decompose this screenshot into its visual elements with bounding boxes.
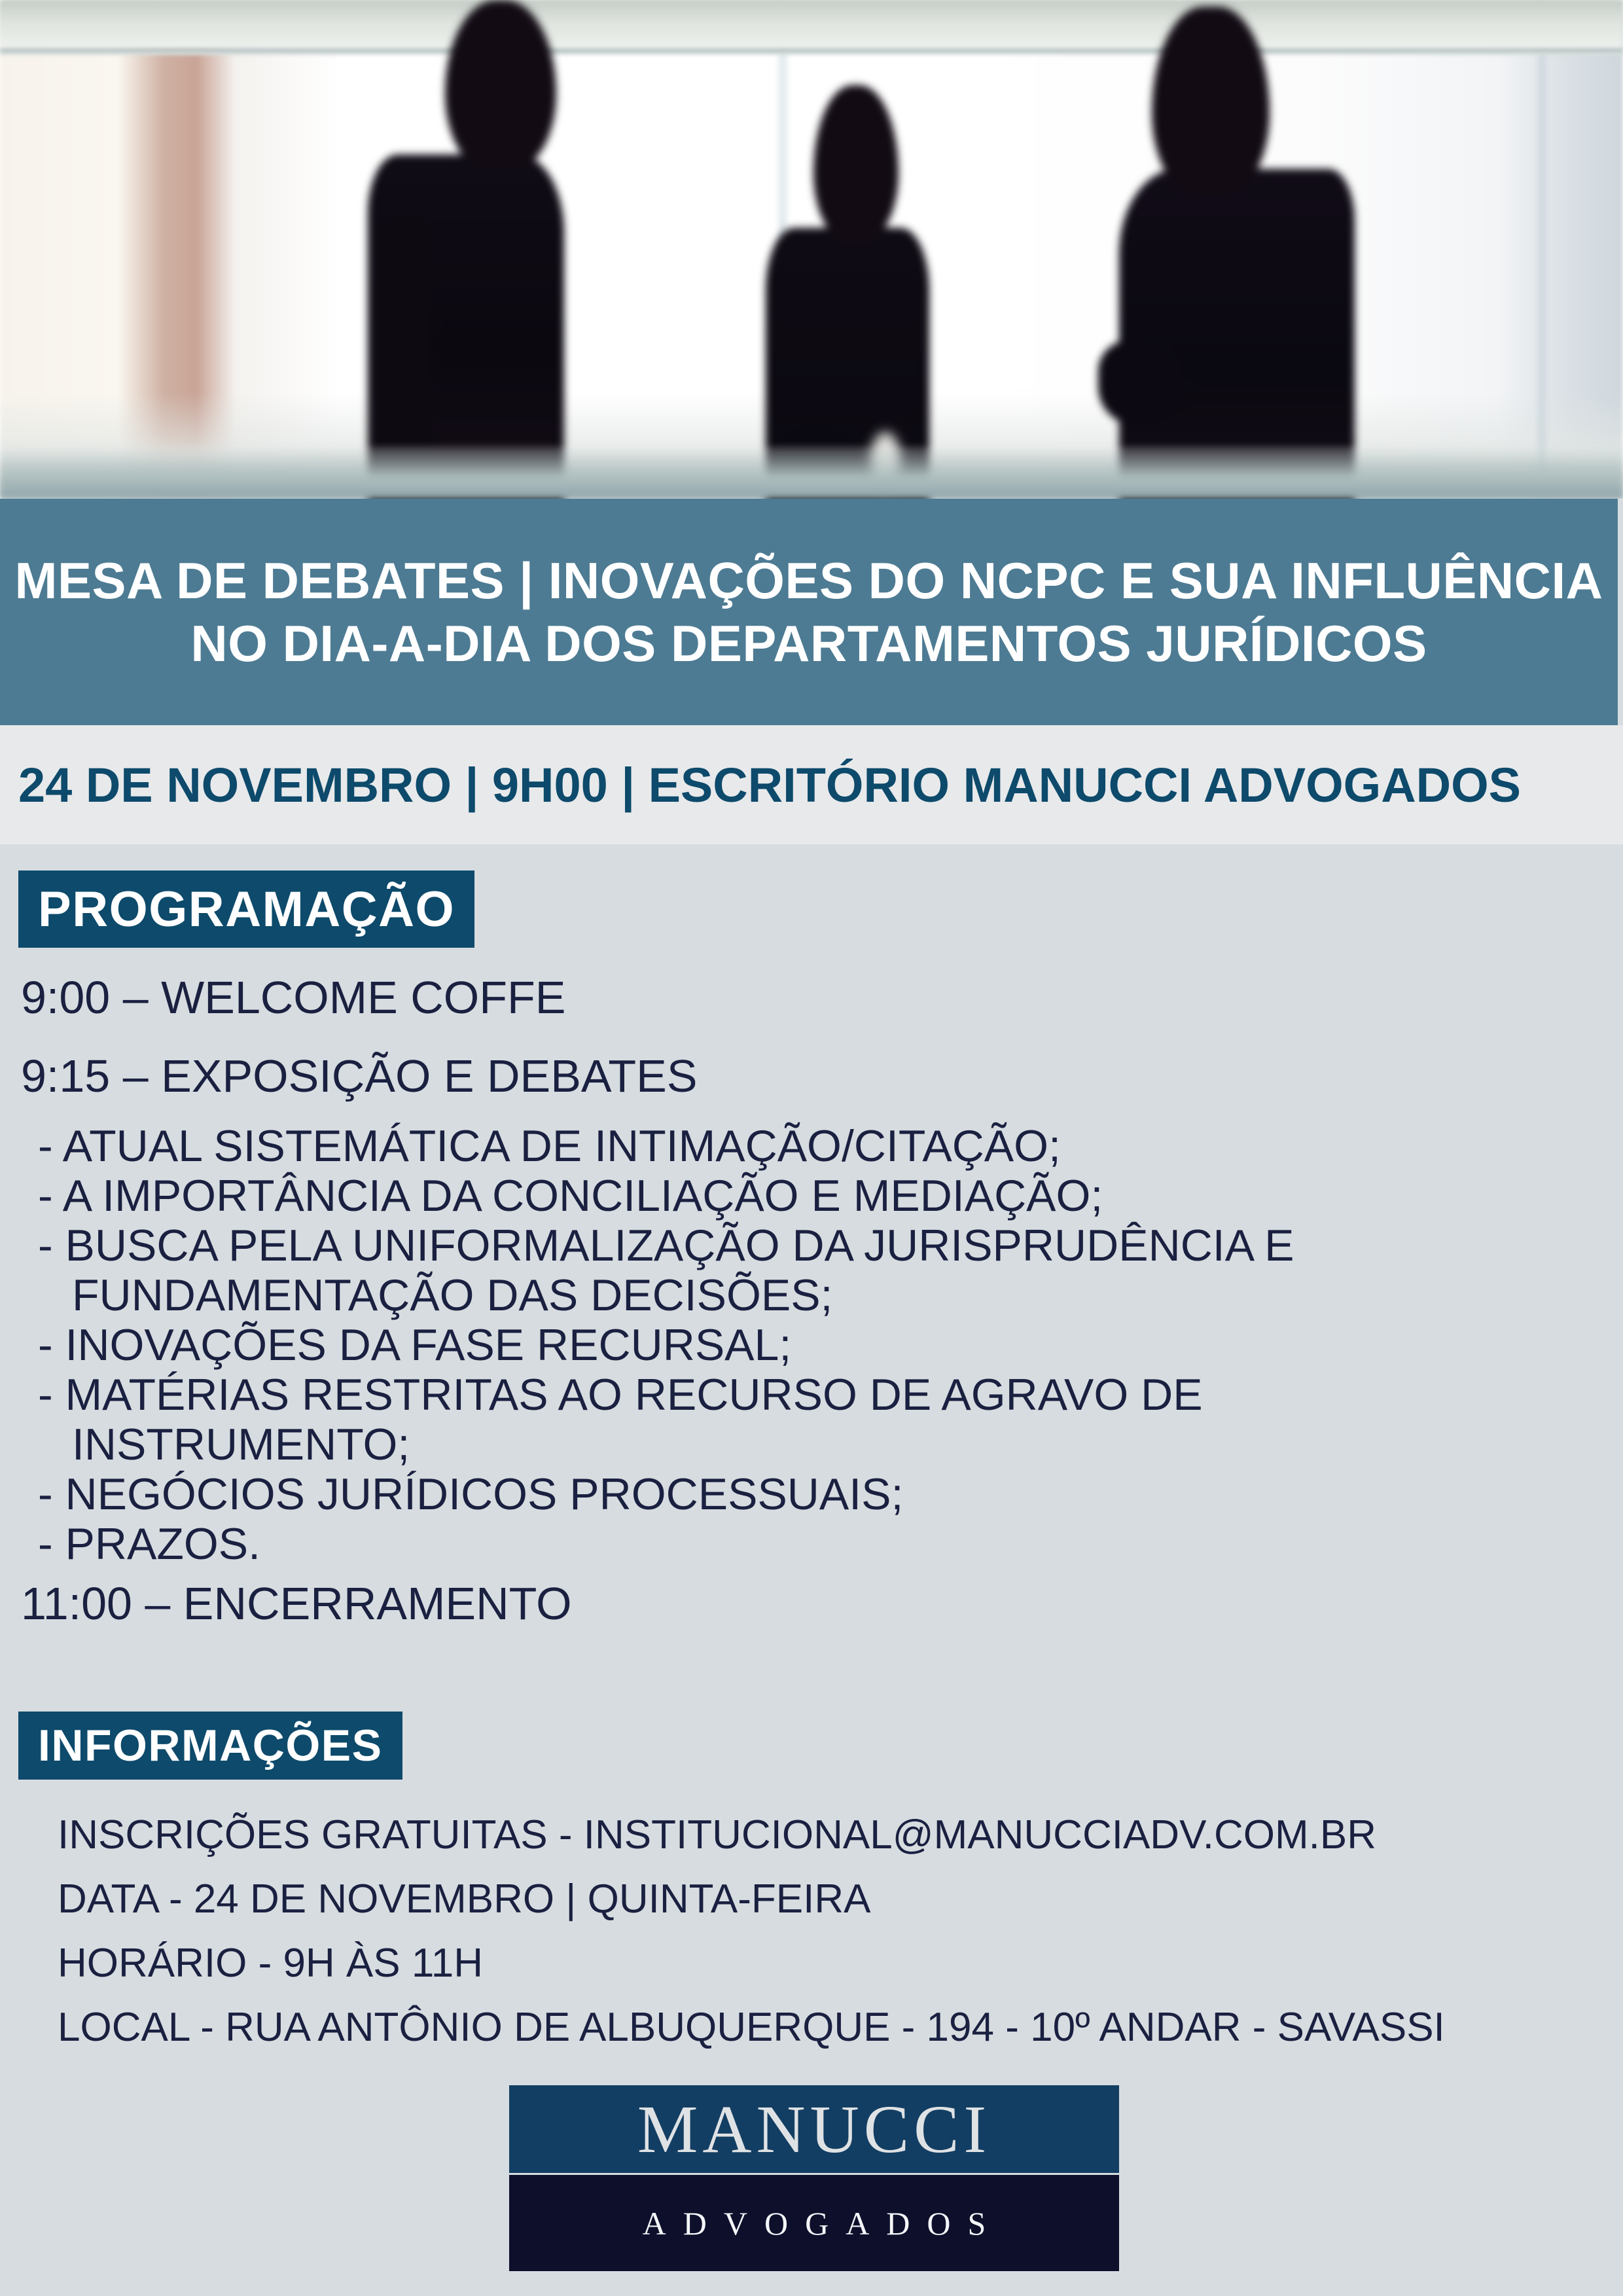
program-bullet: - A IMPORTÂNCIA DA CONCILIAÇÃO E MEDIAÇÃ… (38, 1172, 1103, 1220)
poster-body: PROGRAMAÇÃO 9:00 – WELCOME COFFE 9:15 – … (0, 844, 1623, 2296)
manucci-logo: MANUCCI ADVOGADOS (509, 2085, 1119, 2271)
window-mullion-icon (1538, 0, 1546, 499)
program-bullet: - INOVAÇÕES DA FASE RECURSAL; (38, 1321, 791, 1369)
event-title-line-1: MESA DE DEBATES | INOVAÇÕES DO NCPC E SU… (14, 549, 1603, 612)
info-line: HORÁRIO - 9H ÀS 11H (58, 1941, 483, 1986)
event-title-line-2: NO DIA-A-DIA DOS DEPARTAMENTOS JURÍDICOS (190, 612, 1427, 675)
program-item: 9:15 – EXPOSIÇÃO E DEBATES (21, 1051, 698, 1101)
event-date-band: 24 DE NOVEMBRO | 9H00 | ESCRITÓRIO MANUC… (0, 725, 1623, 844)
logo-name: MANUCCI (637, 2090, 991, 2168)
silhouette-figure (1106, 0, 1368, 499)
event-title-band: MESA DE DEBATES | INOVAÇÕES DO NCPC E SU… (0, 499, 1618, 725)
event-date-text: 24 DE NOVEMBRO | 9H00 | ESCRITÓRIO MANUC… (0, 757, 1521, 813)
program-bullet: - BUSCA PELA UNIFORMALIZAÇÃO DA JURISPRU… (38, 1221, 1294, 1270)
logo-tagline: ADVOGADOS (626, 2204, 1003, 2242)
floor (0, 446, 1623, 499)
program-bullet-continuation: INSTRUMENTO; (72, 1420, 410, 1469)
info-line: DATA - 24 DE NOVEMBRO | QUINTA-FEIRA (58, 1877, 870, 1922)
ceiling-edge (0, 48, 1623, 55)
silhouette-figure (740, 85, 955, 499)
programacao-heading: PROGRAMAÇÃO (18, 870, 474, 948)
program-bullet-continuation: FUNDAMENTAÇÃO DAS DECISÕES; (72, 1271, 832, 1319)
silhouette-figure (366, 0, 582, 499)
program-bullet: - PRAZOS. (38, 1520, 260, 1568)
program-closing: 11:00 – ENCERRAMENTO (21, 1579, 572, 1628)
logo-tagline-block: ADVOGADOS (509, 2175, 1119, 2271)
program-bullet: - MATÉRIAS RESTRITAS AO RECURSO DE AGRAV… (38, 1371, 1203, 1419)
program-item: 9:00 – WELCOME COFFE (21, 973, 565, 1022)
info-line: LOCAL - RUA ANTÔNIO DE ALBUQUERQUE - 194… (58, 2005, 1445, 2050)
logo-name-block: MANUCCI (509, 2085, 1119, 2173)
hero-photo (0, 0, 1623, 499)
informacoes-heading: INFORMAÇÕES (18, 1712, 402, 1780)
program-bullet: - ATUAL SISTEMÁTICA DE INTIMAÇÃO/CITAÇÃO… (38, 1122, 1061, 1170)
program-bullet: - NEGÓCIOS JURÍDICOS PROCESSUAIS; (38, 1470, 903, 1518)
info-line: INSCRIÇÕES GRATUITAS - INSTITUCIONAL@MAN… (58, 1813, 1376, 1857)
ceiling (0, 0, 1623, 51)
